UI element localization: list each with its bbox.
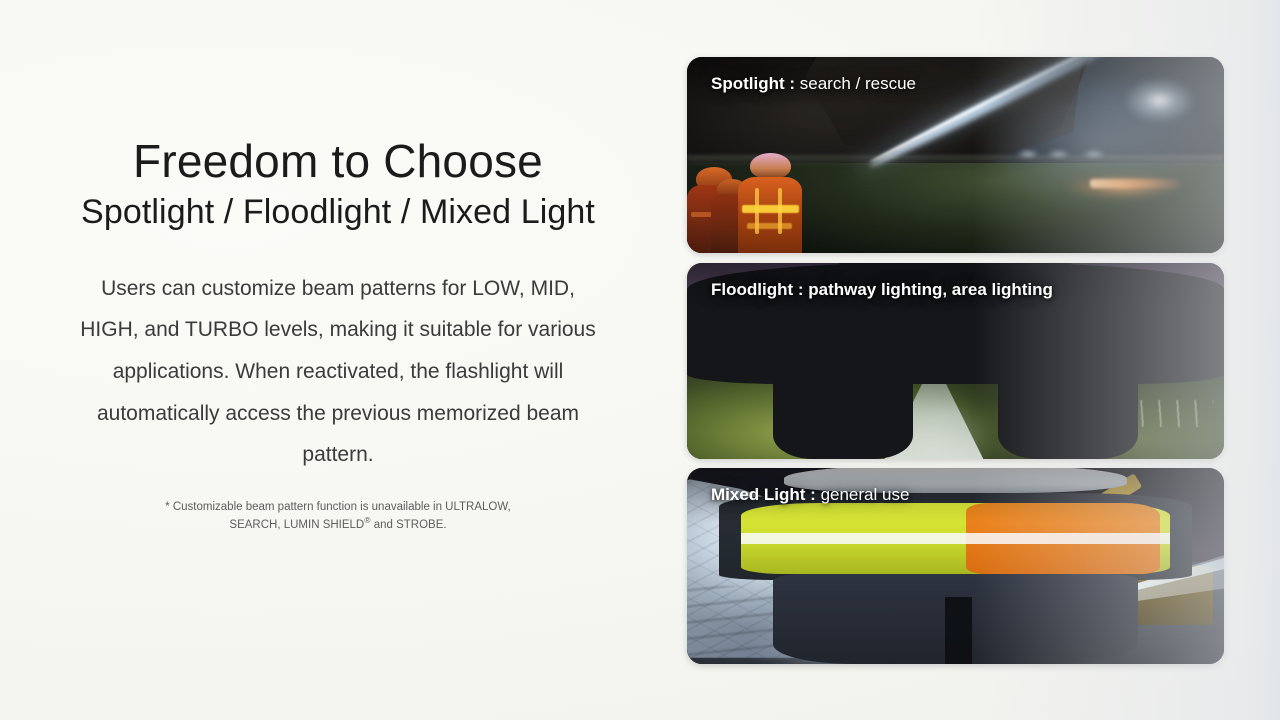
caption-separator: :: [785, 74, 800, 93]
photo-card-spotlight[interactable]: Spotlight : search / rescue: [687, 57, 1224, 253]
caption-usecase-label: general use: [821, 485, 910, 504]
caption-usecase-label: pathway lighting, area lighting: [808, 280, 1053, 299]
footnote-line-2-pre: SEARCH, LUMIN SHIELD: [229, 519, 364, 531]
caption-floodlight: Floodlight : pathway lighting, area ligh…: [711, 280, 1053, 300]
caption-mode-label: Spotlight: [711, 74, 785, 93]
caption-mixed-light: Mixed Light : general use: [711, 485, 909, 505]
photo-card-list: Spotlight : search / rescue: [687, 57, 1224, 664]
footnote-line-2-post: and STROBE.: [371, 519, 447, 531]
caption-separator: :: [805, 485, 820, 504]
caption-mode-label: Mixed Light: [711, 485, 805, 504]
page-title: Freedom to Choose: [133, 137, 543, 187]
page-subtitle: Spotlight / Floodlight / Mixed Light: [81, 193, 595, 232]
photo-card-floodlight[interactable]: Floodlight : pathway lighting, area ligh…: [687, 263, 1224, 459]
caption-usecase-label: search / rescue: [800, 74, 916, 93]
text-column: Freedom to Choose Spotlight / Floodlight…: [0, 0, 676, 720]
caption-mode-label: Floodlight: [711, 280, 793, 299]
caption-separator: :: [793, 280, 808, 299]
photo-card-mixed-light[interactable]: Mixed Light : general use: [687, 468, 1224, 664]
footnote: * Customizable beam pattern function is …: [103, 498, 573, 535]
body-paragraph: Users can customize beam patterns for LO…: [73, 268, 603, 476]
footnote-line-1: * Customizable beam pattern function is …: [165, 501, 511, 513]
caption-spotlight: Spotlight : search / rescue: [711, 74, 916, 94]
slide-root: Freedom to Choose Spotlight / Floodlight…: [0, 0, 1280, 720]
